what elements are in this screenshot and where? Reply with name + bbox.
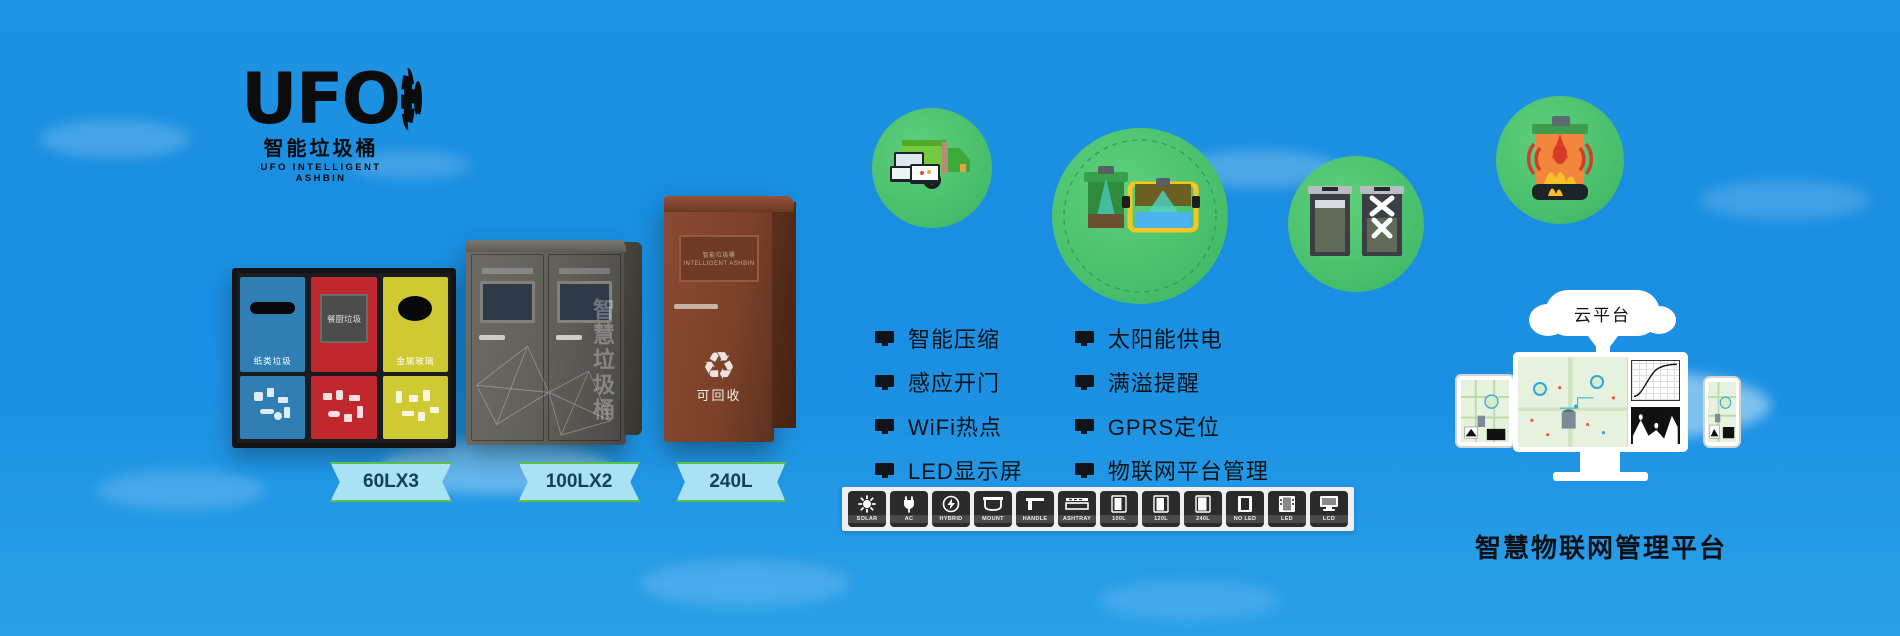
capacity-label: 240L: [709, 471, 752, 493]
bin-compartment-label: 金属玻璃: [383, 355, 448, 367]
feature-item: 智能压缩: [875, 322, 1023, 354]
logo-chinese-name: 智能垃圾桶: [246, 138, 396, 160]
spec-handle[interactable]: HANDLE: [1016, 491, 1054, 527]
device-desktop-monitor: [1513, 352, 1688, 452]
bin-compartment-label: 纸类垃圾: [240, 355, 305, 367]
product-bin-triple: 纸类垃圾 餐厨垃圾: [232, 268, 456, 448]
spec-no-led[interactable]: NO LED: [1226, 491, 1264, 527]
spec-solar[interactable]: SOLAR: [848, 491, 886, 527]
iot-platform-illustration: 云平台: [1455, 300, 1745, 515]
dual-bin-compress-icon: [1288, 156, 1424, 292]
monitor-icon: [875, 375, 894, 390]
bin-vertical-text: 智慧垃圾桶: [586, 298, 618, 423]
feature-item: 物联网平台管理: [1075, 454, 1269, 486]
bin-top-cover: [466, 240, 626, 252]
bin-top-cover: [664, 196, 794, 212]
product-bin-double: 智慧垃圾桶: [466, 240, 626, 445]
logo-letters: UFO: [241, 68, 399, 130]
feature-label: 智能压缩: [908, 322, 1000, 354]
power-plug-icon: [894, 493, 924, 514]
spec-ac[interactable]: AC: [890, 491, 928, 527]
chart-dashboard-panel: [1627, 357, 1683, 447]
feature-label: 太阳能供电: [1108, 322, 1223, 354]
lcd-icon: [1314, 493, 1344, 514]
monitor-icon: [875, 419, 894, 434]
monitor-stand: [1580, 452, 1620, 474]
bin-100l-icon: [1104, 493, 1134, 514]
spec-hybrid[interactable]: HYBRID: [932, 491, 970, 527]
logo-mark: UFO: [246, 62, 396, 136]
bin-side-panel: [624, 242, 642, 435]
cloud-platform-bubble: 云平台: [1545, 290, 1660, 336]
bin-fire-alert-icon: [1496, 96, 1624, 224]
bin-window: [480, 281, 534, 324]
bin-120l-icon: [1146, 493, 1176, 514]
feature-item: 太阳能供电: [1075, 322, 1269, 354]
cloud-decoration: [640, 560, 850, 606]
bin-slot-opening: [250, 302, 294, 314]
spec-caption: MOUNT: [974, 515, 1012, 523]
logo-english-name: UFO INTELLIGENT ASHBIN: [246, 162, 396, 184]
spec-ashtray[interactable]: ASHTRAY: [1058, 491, 1096, 527]
monitor-icon: [875, 463, 894, 478]
recycle-icon: ♻: [664, 349, 774, 385]
feature-circle-smart-collection: [872, 108, 992, 228]
no-led-icon: [1230, 493, 1260, 514]
bin-graphic-waste: [311, 376, 376, 439]
bin-screen-line2: INTELLIGENT ASHBIN: [683, 261, 754, 267]
product-bin-single: 智能垃圾桶 INTELLIGENT ASHBIN ♻ 可回收: [664, 196, 774, 442]
hybrid-bolt-icon: [936, 493, 966, 514]
truck-monitoring-icon: [872, 108, 992, 228]
device-smartphone: [1703, 376, 1741, 448]
sun-icon: [852, 493, 882, 514]
feature-column-right: 太阳能供电 满溢提醒 GPRS定位 物联网平台管理: [1075, 322, 1269, 486]
bin-round-opening: [398, 296, 432, 321]
capacity-banner-60lx3: 60LX3: [330, 462, 452, 502]
spec-lcd[interactable]: LCD: [1310, 491, 1348, 527]
capacity-label: 60LX3: [363, 471, 419, 493]
feature-item: 满溢提醒: [1075, 366, 1269, 398]
bin-display-window: 智能垃圾桶 INTELLIGENT ASHBIN: [679, 235, 758, 282]
bin-240l-icon: [1188, 493, 1218, 514]
capacity-banner-100lx2: 100LX2: [518, 462, 640, 502]
brand-logo: UFO 智能垃圾桶 UFO INTELLIGENT ASHBIN: [246, 62, 396, 184]
feature-list: 智能压缩 感应开门 WiFi热点 LED显示屏: [875, 322, 1269, 486]
spec-mount[interactable]: MOUNT: [974, 491, 1012, 527]
cloud-decoration: [96, 470, 266, 510]
bin-sensor-level-icon: [1052, 128, 1228, 304]
cloud-decoration: [1700, 180, 1870, 220]
spec-120l[interactable]: 120L: [1142, 491, 1180, 527]
monitor-icon: [1075, 463, 1094, 478]
bin-display-panel: 餐厨垃圾: [320, 294, 367, 343]
feature-item: LED显示屏: [875, 454, 1023, 486]
spec-caption: 100L: [1100, 515, 1138, 523]
bin-graphic-waste: [383, 376, 448, 439]
cloud-platform-label: 云平台: [1574, 301, 1631, 326]
spec-caption: LCD: [1310, 515, 1348, 523]
feature-item: GPRS定位: [1075, 410, 1269, 442]
spec-caption: HYBRID: [932, 515, 970, 523]
platform-caption: 智慧物联网管理平台: [1436, 528, 1766, 565]
feature-circle-fire-alarm: [1496, 96, 1624, 224]
monitor-icon: [1075, 419, 1094, 434]
feature-label: WiFi热点: [908, 410, 1002, 442]
spec-caption: 240L: [1184, 515, 1222, 523]
feature-item: 感应开门: [875, 366, 1023, 398]
bin-graphic-waste: [240, 376, 305, 439]
spec-240l[interactable]: 240L: [1184, 491, 1222, 527]
spec-icon-strip: SOLAR AC HYBRID MOUNT HANDLE: [842, 487, 1354, 531]
area-chart: [1631, 407, 1680, 444]
handle-icon: [1020, 493, 1050, 514]
feature-label: 感应开门: [908, 366, 1000, 398]
feature-label: LED显示屏: [908, 454, 1023, 486]
spec-100l[interactable]: 100L: [1100, 491, 1138, 527]
monitor-icon: [875, 331, 894, 346]
feature-item: WiFi热点: [875, 410, 1023, 442]
capacity-banner-240l: 240L: [676, 462, 786, 502]
feature-label: 物联网平台管理: [1108, 454, 1269, 486]
monitor-screen: [1518, 357, 1683, 447]
led-icon: [1272, 493, 1302, 514]
feature-circle-fill-detection: [1052, 128, 1228, 304]
device-tablet: [1455, 374, 1515, 448]
cloud-decoration: [40, 120, 190, 158]
bin-recycle-label: 可回收: [664, 385, 774, 404]
feature-circle-compression: [1288, 156, 1424, 292]
ashtray-icon: [1062, 493, 1092, 514]
spec-caption: 120L: [1142, 515, 1180, 523]
bin-recycle-mark: ♻ 可回收: [664, 349, 774, 404]
spec-caption: ASHTRAY: [1058, 515, 1096, 523]
feature-column-left: 智能压缩 感应开门 WiFi热点 LED显示屏: [875, 322, 1023, 486]
spec-caption: LED: [1268, 515, 1306, 523]
monitor-icon: [1075, 375, 1094, 390]
cloud-decoration: [1100, 580, 1280, 620]
feature-label: 满溢提醒: [1108, 366, 1200, 398]
spec-caption: SOLAR: [848, 515, 886, 523]
feature-label: GPRS定位: [1108, 410, 1220, 442]
poster-canvas: UFO 智能垃圾桶 UFO INTELLIGENT ASHBIN 纸类垃圾: [0, 0, 1900, 636]
bin-compartment-paper: 纸类垃圾: [240, 277, 305, 439]
line-chart: [1631, 360, 1680, 401]
wall-mount-icon: [978, 493, 1008, 514]
spec-caption: AC: [890, 515, 928, 523]
bin-screen-line1: 智能垃圾桶: [703, 250, 736, 259]
monitor-icon: [1075, 331, 1094, 346]
map-dashboard-panel: [1518, 357, 1627, 447]
bin-handle: [674, 304, 718, 309]
spec-caption: NO LED: [1226, 515, 1264, 523]
tablet-screen: [1461, 380, 1509, 442]
bin-side-panel: [772, 202, 796, 428]
spec-led[interactable]: LED: [1268, 491, 1306, 527]
spec-caption: HANDLE: [1016, 515, 1054, 523]
bin-compartment-kitchen: 餐厨垃圾: [311, 277, 376, 439]
bin-compartment-metal-glass: 金属玻璃: [383, 277, 448, 439]
capacity-label: 100LX2: [546, 471, 613, 493]
monitor-base: [1553, 472, 1648, 481]
phone-screen: [1708, 382, 1736, 442]
